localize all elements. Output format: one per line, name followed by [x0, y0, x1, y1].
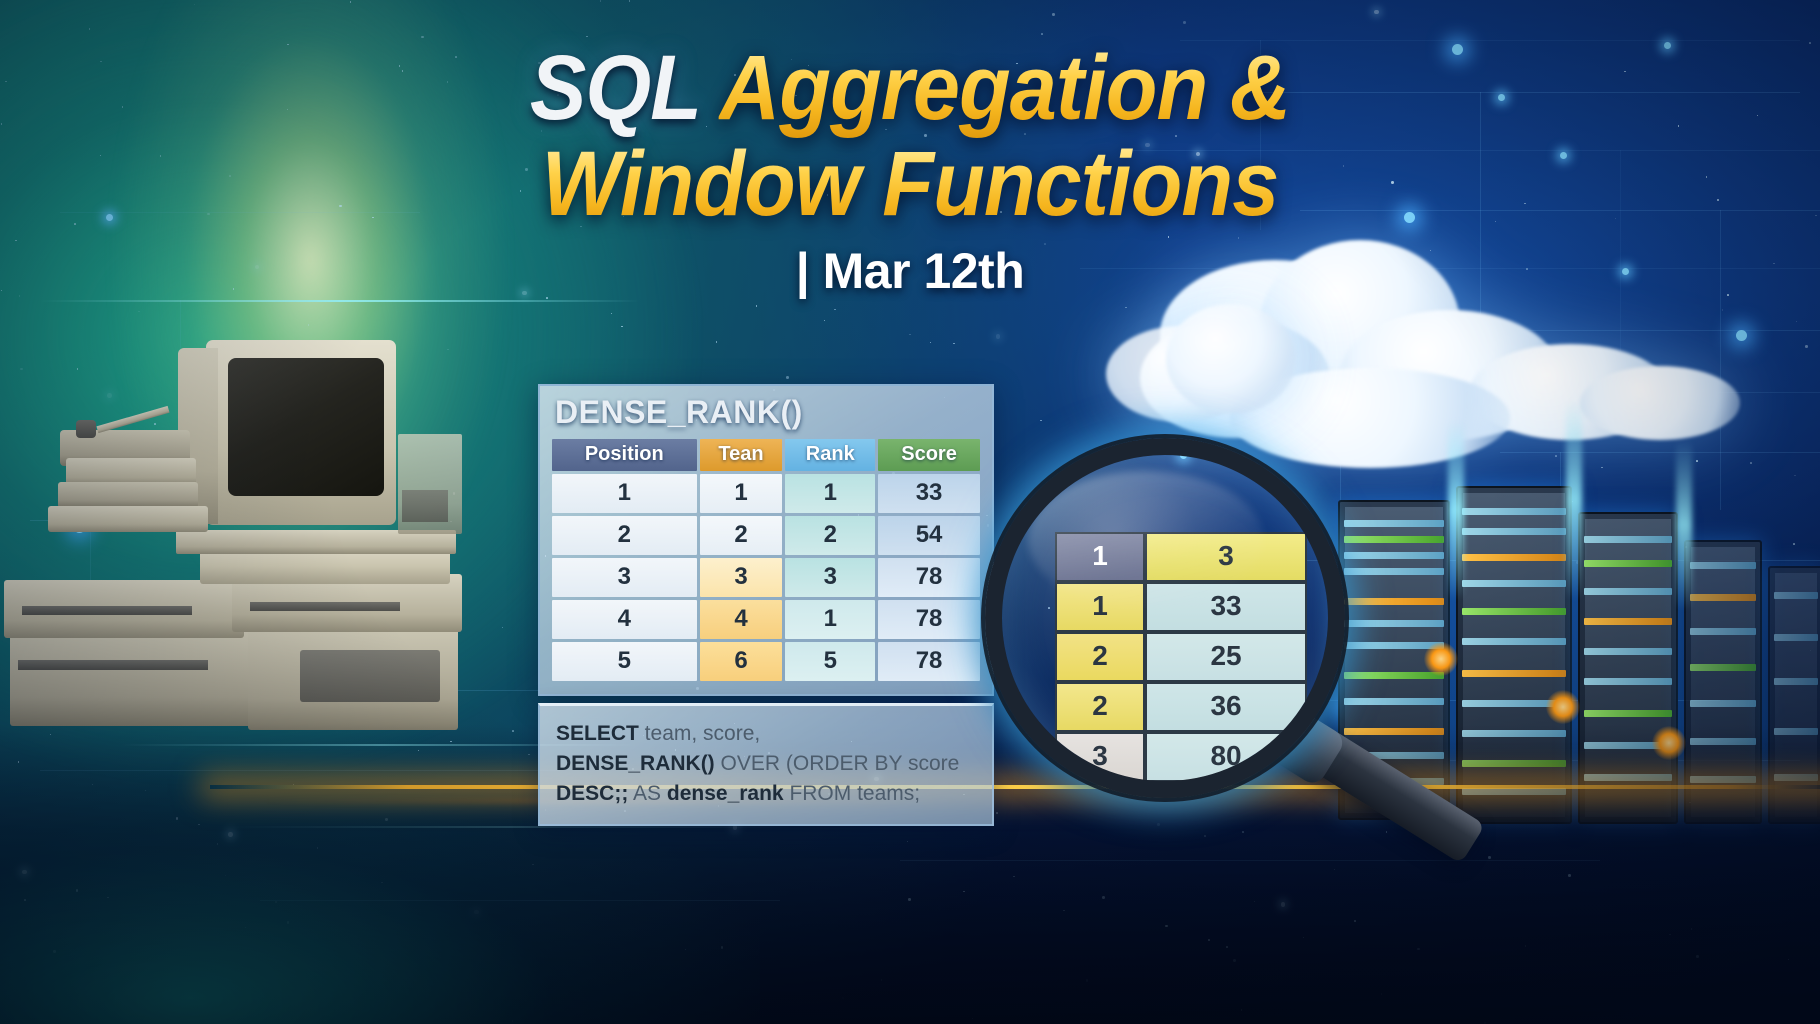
- magnified-cell-right: 36: [1145, 682, 1307, 732]
- cell-position: 1: [552, 474, 697, 513]
- column-header-position: Position: [552, 439, 697, 471]
- sql-line-2: DENSE_RANK() OVER (ORDER BY score: [556, 749, 976, 779]
- panel-heading: DENSE_RANK(): [549, 394, 983, 436]
- cell-rank: 1: [785, 600, 875, 639]
- table-row: 1 1 1 33: [552, 474, 980, 513]
- column-header-rank: Rank: [785, 439, 875, 471]
- title-sql: SQL: [530, 37, 700, 139]
- title-block: SQL Aggregation & Window Functions | Mar…: [0, 40, 1820, 300]
- cell-score: 78: [878, 600, 980, 639]
- cell-tean: 1: [700, 474, 783, 513]
- column-header-tean: Tean: [700, 439, 783, 471]
- dense-rank-table: Position Tean Rank Score 1 1 1 33 2: [549, 436, 983, 684]
- magnified-cell-left: 3: [1055, 732, 1145, 782]
- cell-position: 5: [552, 642, 697, 681]
- sql-query-card: SELECT team, score, DENSE_RANK() OVER (O…: [538, 703, 994, 826]
- sql-text-3b: FROM teams;: [784, 782, 921, 805]
- dense-rank-table-card: DENSE_RANK() Position Tean Rank Score 1 …: [538, 384, 994, 696]
- cell-tean: 4: [700, 600, 783, 639]
- cell-position: 2: [552, 516, 697, 555]
- cell-rank: 3: [785, 558, 875, 597]
- cell-rank: 5: [785, 642, 875, 681]
- table-body: 1 1 1 33 2 2 2 54 3 3 3: [552, 474, 980, 681]
- cell-tean: 2: [700, 516, 783, 555]
- magnified-cell-left: 2: [1055, 632, 1145, 682]
- sql-alias-dense-rank: dense_rank: [667, 782, 784, 805]
- cell-score: 78: [878, 558, 980, 597]
- event-date: | Mar 12th: [0, 242, 1820, 300]
- dense-rank-panel: DENSE_RANK() Position Tean Rank Score 1 …: [538, 384, 994, 826]
- table-row: 4 4 1 78: [552, 600, 980, 639]
- table-row: 3 3 3 78: [552, 558, 980, 597]
- sql-line-3: DESC;; AS dense_rank FROM teams;: [556, 779, 976, 809]
- table-header-row: Position Tean Rank Score: [552, 439, 980, 471]
- sql-text-1: team, score,: [639, 722, 760, 745]
- cell-score: 54: [878, 516, 980, 555]
- table-row: 5 6 5 78: [552, 642, 980, 681]
- cell-score: 78: [878, 642, 980, 681]
- title-line-2: Window Functions: [73, 136, 1747, 232]
- column-header-score: Score: [878, 439, 980, 471]
- sql-keyword-dense-rank: DENSE_RANK(): [556, 752, 715, 775]
- promo-banner: SQL Aggregation & Window Functions | Mar…: [0, 0, 1820, 1024]
- title-line-1: SQL Aggregation &: [73, 40, 1747, 136]
- cell-tean: 6: [700, 642, 783, 681]
- magnified-row: 2 25: [1055, 632, 1307, 682]
- cell-position: 4: [552, 600, 697, 639]
- magnified-cell-right: 25: [1145, 632, 1307, 682]
- sql-line-1: SELECT team, score,: [556, 719, 976, 749]
- title-aggregation: Aggregation &: [719, 37, 1290, 139]
- magnifier-gloss: [1028, 471, 1263, 608]
- magnifier-lens: 1 3 1 33 2 25 2 36: [985, 438, 1345, 798]
- cell-score: 33: [878, 474, 980, 513]
- cell-rank: 1: [785, 474, 875, 513]
- sql-text-2: OVER (ORDER BY score: [715, 752, 960, 775]
- cell-tean: 3: [700, 558, 783, 597]
- magnified-row: 3 80: [1055, 732, 1307, 782]
- sql-keyword-select: SELECT: [556, 722, 639, 745]
- sql-text-3a: AS: [628, 782, 667, 805]
- magnified-cell-left: 2: [1055, 682, 1145, 732]
- magnified-cell-right: 80: [1145, 732, 1307, 782]
- magnified-row: 2 36: [1055, 682, 1307, 732]
- table-row: 2 2 2 54: [552, 516, 980, 555]
- sql-keyword-desc: DESC;;: [556, 782, 628, 805]
- cell-position: 3: [552, 558, 697, 597]
- cell-rank: 2: [785, 516, 875, 555]
